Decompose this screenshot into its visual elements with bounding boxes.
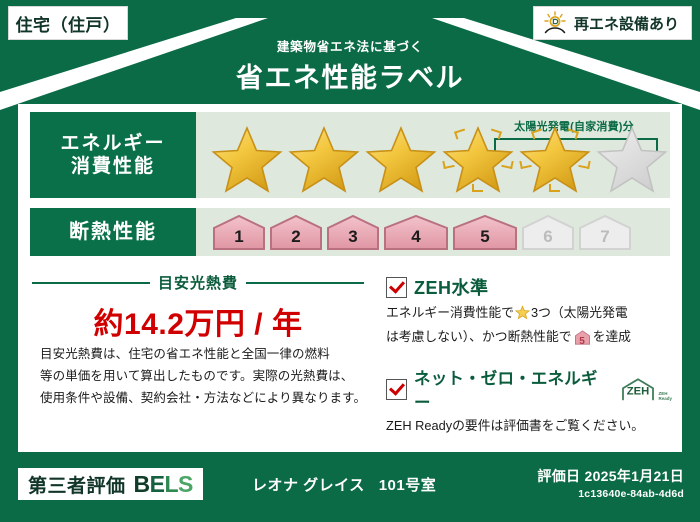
insulation-badge-active: 5 xyxy=(452,214,518,251)
energy-performance-row: エネルギー 消費性能 太陽光発電(自家消費)分 xyxy=(30,112,670,198)
insulation-badge-active: 3 xyxy=(326,214,380,251)
star-empty xyxy=(595,124,669,194)
energy-performance-value: 太陽光発電(自家消費)分 xyxy=(196,112,670,198)
utility-cost-heading: 目安光熱費 xyxy=(32,272,364,293)
utility-cost-note-line2: 等の単価を用いて算出したものです。実際の光熱費は、 xyxy=(40,366,370,388)
evaluation-info: 評価日 2025年1月21日 1c13640e-84ab-4d6d xyxy=(537,466,684,500)
main-panel: エネルギー 消費性能 太陽光発電(自家消費)分 断熱性能 1234567 目安光… xyxy=(18,104,682,452)
energy-key-line2: 消費性能 xyxy=(71,155,155,178)
rule-left xyxy=(32,282,150,284)
utility-cost-title: 目安光熱費 xyxy=(158,272,238,293)
insulation-badge-inactive: 7 xyxy=(578,214,632,251)
insulation-badge-active: 4 xyxy=(383,214,449,251)
net-zero-title: ネット・ゼロ・エネルギー xyxy=(414,365,607,413)
inline-insulation-badge: 5 xyxy=(574,330,591,352)
insulation-performance-row: 断熱性能 1234567 xyxy=(30,208,670,256)
zeh-standard-title: ZEH水準 xyxy=(414,274,489,300)
zeh-desc-a: エネルギー消費性能で xyxy=(386,305,514,320)
energy-performance-label: 住宅（住戸） 再エネ設備あり 建築物省エネ法に基づく 省エネ性能ラベル エネルギ… xyxy=(0,0,700,522)
checkbox-checked-icon-2 xyxy=(386,379,407,400)
net-zero-description: ZEH Readyの要件は評価書をご覧ください。 xyxy=(386,416,672,437)
energy-star-rating xyxy=(210,124,669,194)
insulation-performance-value: 1234567 xyxy=(196,208,670,256)
svg-text:ZEH: ZEH xyxy=(627,386,650,398)
zeh-standard-heading: ZEH水準 xyxy=(386,274,672,300)
insulation-level-value: 5 xyxy=(452,227,518,247)
bels-letter: B xyxy=(134,471,150,497)
star-filled xyxy=(287,124,361,194)
insulation-badge-active: 1 xyxy=(212,214,266,251)
zeh-ready-logo: ZEH ZEH Ready xyxy=(620,377,672,401)
utility-cost-note: 目安光熱費は、住宅の省エネ性能と全国一律の燃料 等の単価を用いて算出したものです… xyxy=(40,344,370,410)
insulation-level-value: 6 xyxy=(521,227,575,247)
star-filled xyxy=(518,124,592,194)
zeh-ready-line2: Ready xyxy=(658,396,672,401)
utility-cost-note-line3: 使用条件や設備、契約会社・方法などにより異なります。 xyxy=(40,388,370,410)
insulation-badge-inactive: 6 xyxy=(521,214,575,251)
star-filled xyxy=(364,124,438,194)
zeh-block: ZEH水準 エネルギー消費性能で3つ（太陽光発電 は考慮しない）、かつ断熱性能で… xyxy=(386,274,672,437)
solar-sun-icon xyxy=(542,11,568,35)
insulation-badge-active: 2 xyxy=(269,214,323,251)
net-zero-heading: ネット・ゼロ・エネルギー ZEH ZEH Ready xyxy=(386,365,672,413)
building-info: レオナ グレイス 101号室 xyxy=(252,468,436,500)
zeh-desc-d: を達成 xyxy=(593,329,631,344)
bels-letter: E xyxy=(150,471,165,497)
zeh-standard-description: エネルギー消費性能で3つ（太陽光発電 は考慮しない）、かつ断熱性能で5を達成 xyxy=(386,303,672,351)
bels-letter: S xyxy=(178,471,193,497)
insulation-level-value: 4 xyxy=(383,227,449,247)
insulation-level-value: 1 xyxy=(212,227,266,247)
insulation-level-value: 2 xyxy=(269,227,323,247)
insulation-level-value: 3 xyxy=(326,227,380,247)
utility-cost-value: 約14.2万円 / 年 xyxy=(32,299,364,343)
star-filled xyxy=(441,124,515,194)
evaluation-id: 1c13640e-84ab-4d6d xyxy=(537,488,684,500)
inline-insulation-level: 5 xyxy=(574,334,591,350)
bels-jp-label: 第三者評価 xyxy=(28,471,126,498)
bels-badge: 第三者評価 BELS xyxy=(18,468,203,500)
zeh-star-count: 3つ（太陽光発電 xyxy=(531,305,628,320)
building-name: レオナ グレイス xyxy=(252,474,365,495)
zeh-desc-c: は考慮しない）、かつ断熱性能で xyxy=(386,329,572,344)
insulation-performance-key: 断熱性能 xyxy=(30,208,196,256)
star-filled xyxy=(210,124,284,194)
footer: 第三者評価 BELS レオナ グレイス 101号室 評価日 2025年1月21日… xyxy=(0,460,700,522)
energy-key-line1: エネルギー xyxy=(60,132,165,155)
utility-cost-block: 目安光熱費 約14.2万円 / 年 xyxy=(32,272,364,343)
bels-logo: BELS xyxy=(134,471,193,498)
checkbox-checked-icon xyxy=(386,277,407,298)
room-number: 101号室 xyxy=(379,474,437,495)
insulation-level-value: 7 xyxy=(578,227,632,247)
rule-right xyxy=(246,282,364,284)
renewable-energy-badge: 再エネ設備あり xyxy=(533,6,692,40)
bels-letter: L xyxy=(164,471,178,497)
renewable-energy-badge-label: 再エネ設備あり xyxy=(574,13,679,34)
evaluation-date: 評価日 2025年1月21日 xyxy=(537,466,684,486)
utility-cost-note-line1: 目安光熱費は、住宅の省エネ性能と全国一律の燃料 xyxy=(40,344,370,366)
energy-performance-key: エネルギー 消費性能 xyxy=(30,112,196,198)
housing-type-badge: 住宅（住戸） xyxy=(8,6,128,40)
inline-star-icon xyxy=(515,305,530,327)
insulation-level-scale: 1234567 xyxy=(212,214,632,251)
zeh-ready-caption: ZEH Ready xyxy=(658,391,672,401)
zeh-house-icon: ZEH xyxy=(620,377,656,401)
